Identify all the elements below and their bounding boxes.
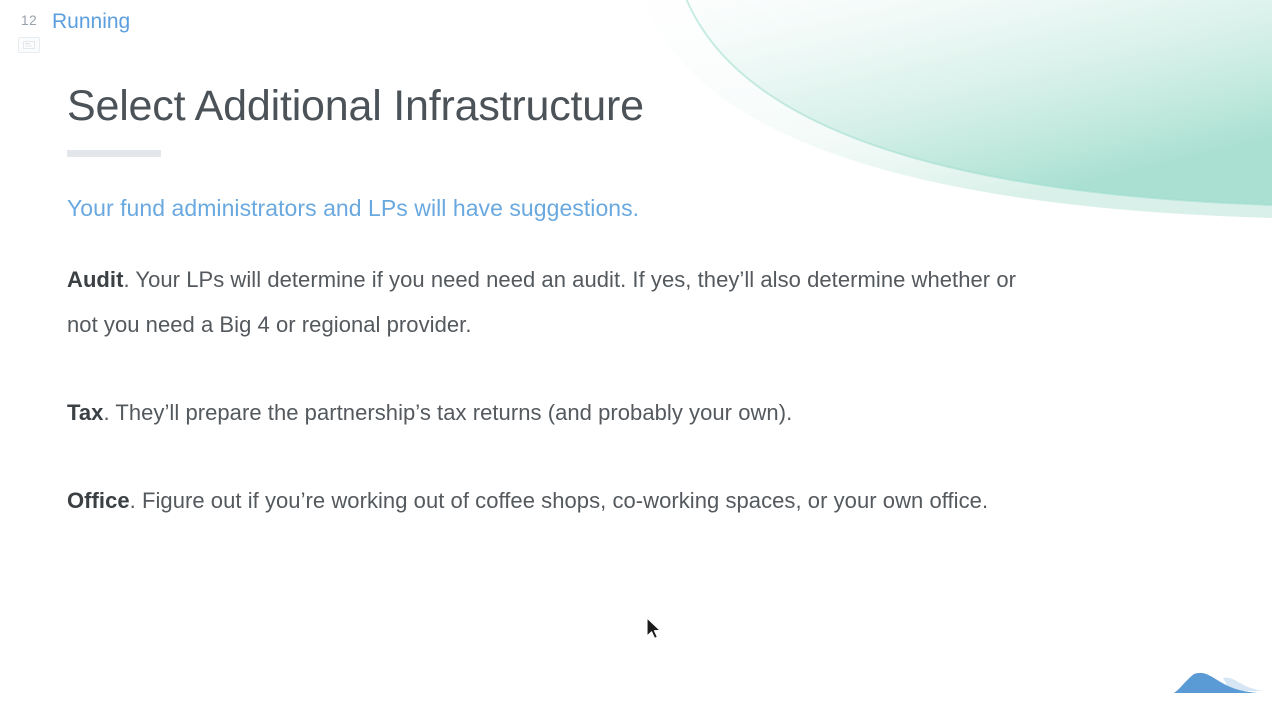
bullet-body-text: . They’ll prepare the partnership’s tax … [103, 400, 792, 425]
list-item: Office. Figure out if you’re working out… [67, 478, 1017, 523]
title-underline-rule [67, 150, 161, 157]
presentation-state-label: Running [52, 10, 130, 34]
mouse-pointer-icon [645, 617, 663, 643]
presentation-slide: 12 Running Select Additional Infrastruct… [0, 0, 1272, 714]
slide-number: 12 [21, 12, 37, 28]
slide-subtitle: Your fund administrators and LPs will ha… [67, 193, 1067, 223]
slide-thumbnail-icon[interactable] [18, 37, 40, 53]
list-item: Tax. They’ll prepare the partnership’s t… [67, 390, 1017, 435]
bullet-body-text: . Your LPs will determine if you need ne… [67, 267, 1016, 337]
slide-number-group: 12 [18, 12, 40, 53]
wave-logo-icon [1168, 666, 1264, 706]
bullet-lead-term: Audit [67, 267, 123, 292]
slide-status-bar: 12 Running [0, 0, 130, 70]
bullet-body-text: . Figure out if you’re working out of co… [130, 488, 988, 513]
bullet-lead-term: Office [67, 488, 130, 513]
page-title: Select Additional Infrastructure [67, 80, 1067, 132]
slide-content: Select Additional Infrastructure Your fu… [67, 80, 1067, 523]
list-item: Audit. Your LPs will determine if you ne… [67, 257, 1017, 347]
bullet-lead-term: Tax [67, 400, 103, 425]
